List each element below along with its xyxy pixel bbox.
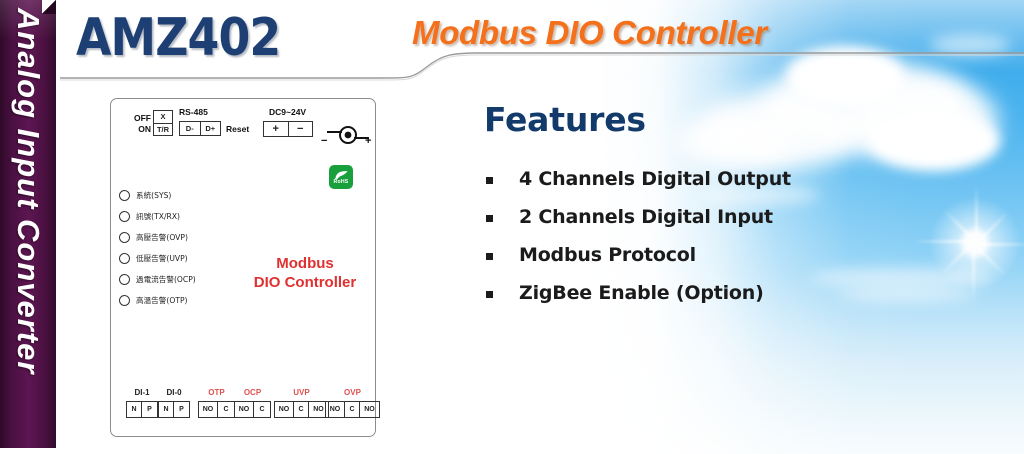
rohs-label: RoHS	[334, 179, 349, 185]
mode-switch-block: X T/R	[153, 110, 173, 136]
terminal-group-otp: OTP NO C	[198, 401, 235, 418]
ribbon-label: Analog Input Converter	[0, 0, 56, 448]
terminal-cell: C	[254, 402, 270, 417]
terminal-cell: P	[142, 402, 157, 417]
device-brand-line2: DIO Controller	[243, 273, 367, 292]
led-circle-icon	[119, 190, 130, 201]
feature-label: Modbus Protocol	[519, 244, 696, 266]
terminal-row: NO C NO	[274, 401, 329, 418]
device-bottom-terminals: DI-1 N P DI-0 N P OTP NO C	[122, 381, 368, 425]
led-row: 高溫告警(OTP)	[119, 290, 196, 311]
features-heading: Features	[484, 100, 646, 139]
switch-on-label: ON	[129, 124, 151, 135]
feature-item: 4 Channels Digital Output	[486, 168, 956, 206]
features-list: 4 Channels Digital Output 2 Channels Dig…	[486, 168, 956, 320]
led-row: 過電流告警(OCP)	[119, 269, 196, 290]
terminal-cell: N	[159, 402, 174, 417]
terminal-cell: NO	[326, 402, 345, 417]
led-label: 過電流告警(OCP)	[136, 274, 196, 285]
led-label: 高溫告警(OTP)	[136, 295, 188, 306]
terminal-group-title: UVP	[274, 388, 329, 397]
terminal-cell: NO	[275, 402, 294, 417]
power-terminal-block: + −	[263, 121, 313, 137]
led-label: 系統(SYS)	[136, 190, 171, 201]
terminal-cell: NO	[235, 402, 254, 417]
jack-minus-label: −	[321, 135, 327, 147]
terminal-row: NO C	[198, 401, 235, 418]
power-pin-minus: −	[289, 122, 313, 136]
device-illustration: OFF ON X T/R RS-485 D- D+ Reset DC9~24V …	[110, 98, 376, 437]
switch-cell-x: X	[154, 111, 172, 124]
led-label: 訊號(TX/RX)	[136, 211, 180, 222]
led-row: 系統(SYS)	[119, 185, 196, 206]
device-brand-text: Modbus DIO Controller	[243, 254, 367, 292]
power-title: DC9~24V	[269, 107, 306, 117]
led-circle-icon	[119, 295, 130, 306]
terminal-row: N P	[158, 401, 190, 418]
terminal-group-di0: DI-0 N P	[158, 401, 190, 418]
bullet-square-icon	[486, 177, 493, 184]
bullet-square-icon	[486, 253, 493, 260]
led-circle-icon	[119, 274, 130, 285]
rs485-title: RS-485	[179, 107, 208, 117]
reset-label: Reset	[226, 124, 249, 134]
rs485-pin-dplus: D+	[201, 122, 221, 135]
terminal-cell: N	[127, 402, 142, 417]
terminal-group-uvp: UVP NO C NO	[274, 401, 329, 418]
led-circle-icon	[119, 253, 130, 264]
terminal-group-di1: DI-1 N P	[126, 401, 158, 418]
feature-label: ZigBee Enable (Option)	[519, 282, 764, 304]
terminal-group-title: DI-1	[126, 388, 158, 397]
terminal-row: NO C NO	[325, 401, 380, 418]
terminal-group-title: OTP	[198, 388, 235, 397]
header-separator	[60, 48, 1024, 84]
terminal-cell: P	[174, 402, 189, 417]
terminal-cell: C	[294, 402, 309, 417]
terminal-group-ocp: OCP NO C	[234, 401, 271, 418]
bullet-square-icon	[486, 291, 493, 298]
datasheet-page: Analog Input Converter AMZ402 Modbus DIO…	[0, 0, 1024, 454]
power-pin-plus: +	[264, 122, 289, 136]
led-row: 低壓告警(UVP)	[119, 248, 196, 269]
device-top-connectors: OFF ON X T/R RS-485 D- D+ Reset DC9~24V …	[129, 107, 373, 149]
rs485-pin-dminus: D-	[180, 122, 201, 135]
rs485-terminal-block: D- D+	[179, 121, 221, 136]
feature-label: 2 Channels Digital Input	[519, 206, 773, 228]
side-ribbon: Analog Input Converter	[0, 0, 56, 448]
led-label: 高壓告警(OVP)	[136, 232, 188, 243]
terminal-cell: C	[345, 402, 360, 417]
led-row: 高壓告警(OVP)	[119, 227, 196, 248]
led-circle-icon	[119, 232, 130, 243]
feature-item: Modbus Protocol	[486, 244, 956, 282]
jack-plus-label: +	[365, 135, 371, 147]
terminal-group-ovp: OVP NO C NO	[325, 401, 380, 418]
switch-cell-tr: T/R	[154, 124, 172, 136]
page-title-headline: Modbus DIO Controller	[412, 14, 767, 52]
device-brand-line1: Modbus	[243, 254, 367, 273]
terminal-cell: NO	[199, 402, 218, 417]
terminal-group-title: OCP	[234, 388, 271, 397]
terminal-row: N P	[126, 401, 158, 418]
terminal-row: NO C	[234, 401, 271, 418]
bullet-square-icon	[486, 215, 493, 222]
led-circle-icon	[119, 211, 130, 222]
switch-position-labels: OFF ON	[129, 113, 151, 135]
feature-item: ZigBee Enable (Option)	[486, 282, 956, 320]
terminal-cell: NO	[360, 402, 379, 417]
led-label: 低壓告警(UVP)	[136, 253, 188, 264]
ribbon-fold-corner	[42, 0, 56, 14]
terminal-group-title: DI-0	[158, 388, 190, 397]
led-row: 訊號(TX/RX)	[119, 206, 196, 227]
switch-off-label: OFF	[129, 113, 151, 124]
rohs-logo: RoHS	[329, 165, 353, 189]
terminal-group-title: OVP	[325, 388, 380, 397]
feature-item: 2 Channels Digital Input	[486, 206, 956, 244]
feature-label: 4 Channels Digital Output	[519, 168, 791, 190]
led-indicator-list: 系統(SYS) 訊號(TX/RX) 高壓告警(OVP) 低壓告警(UVP) 過電…	[119, 185, 196, 311]
terminal-cell: C	[218, 402, 234, 417]
